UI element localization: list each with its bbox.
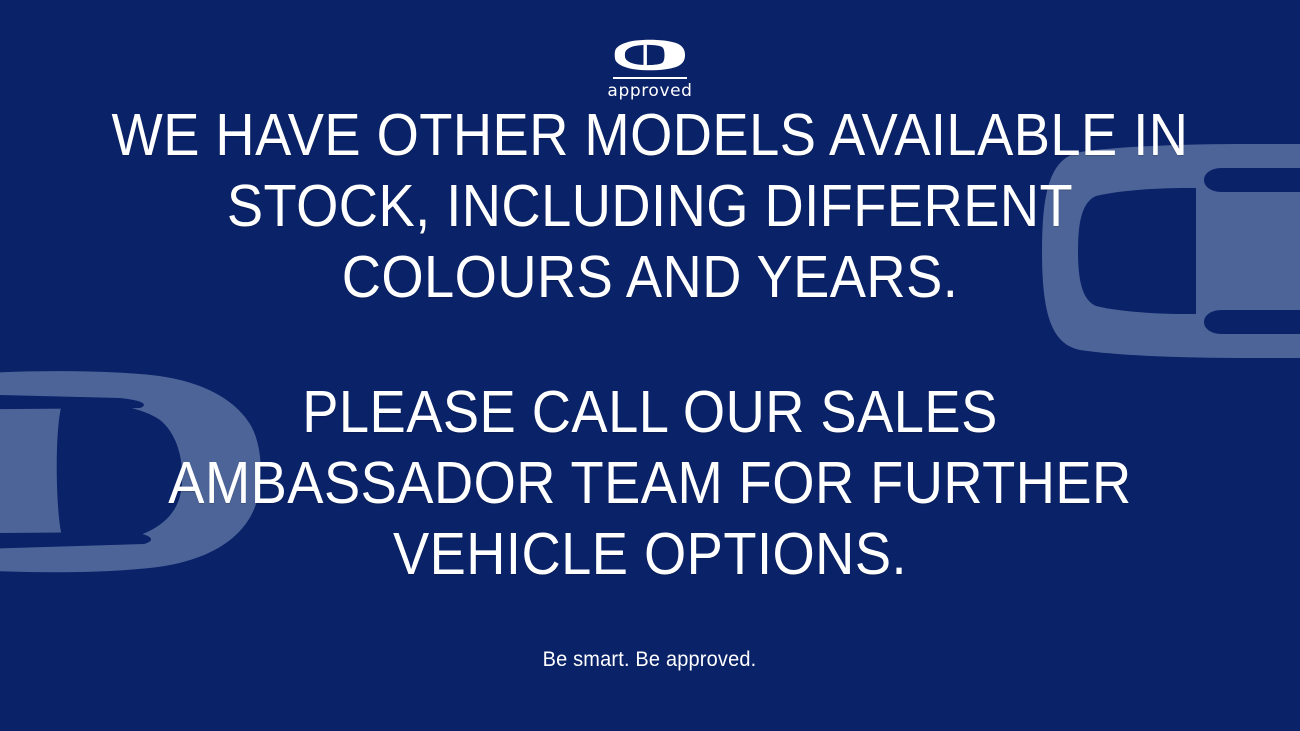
slide-canvas: approved WE HAVE OTHER MODELS AVAILABLE … [0, 0, 1300, 731]
brand-tagline: Be smart. Be approved. [543, 648, 757, 672]
message-block: WE HAVE OTHER MODELS AVAILABLE IN STOCK,… [0, 0, 1300, 731]
brand-logo: approved [0, 38, 1300, 100]
logo-divider [613, 77, 687, 79]
message-paragraph-2: PLEASE CALL OUR SALES AMBASSADOR TEAM FO… [103, 377, 1198, 590]
logo-wordmark: approved [607, 83, 692, 100]
message-paragraph-1: WE HAVE OTHER MODELS AVAILABLE IN STOCK,… [103, 100, 1198, 313]
car-top-view-icon [614, 38, 686, 72]
